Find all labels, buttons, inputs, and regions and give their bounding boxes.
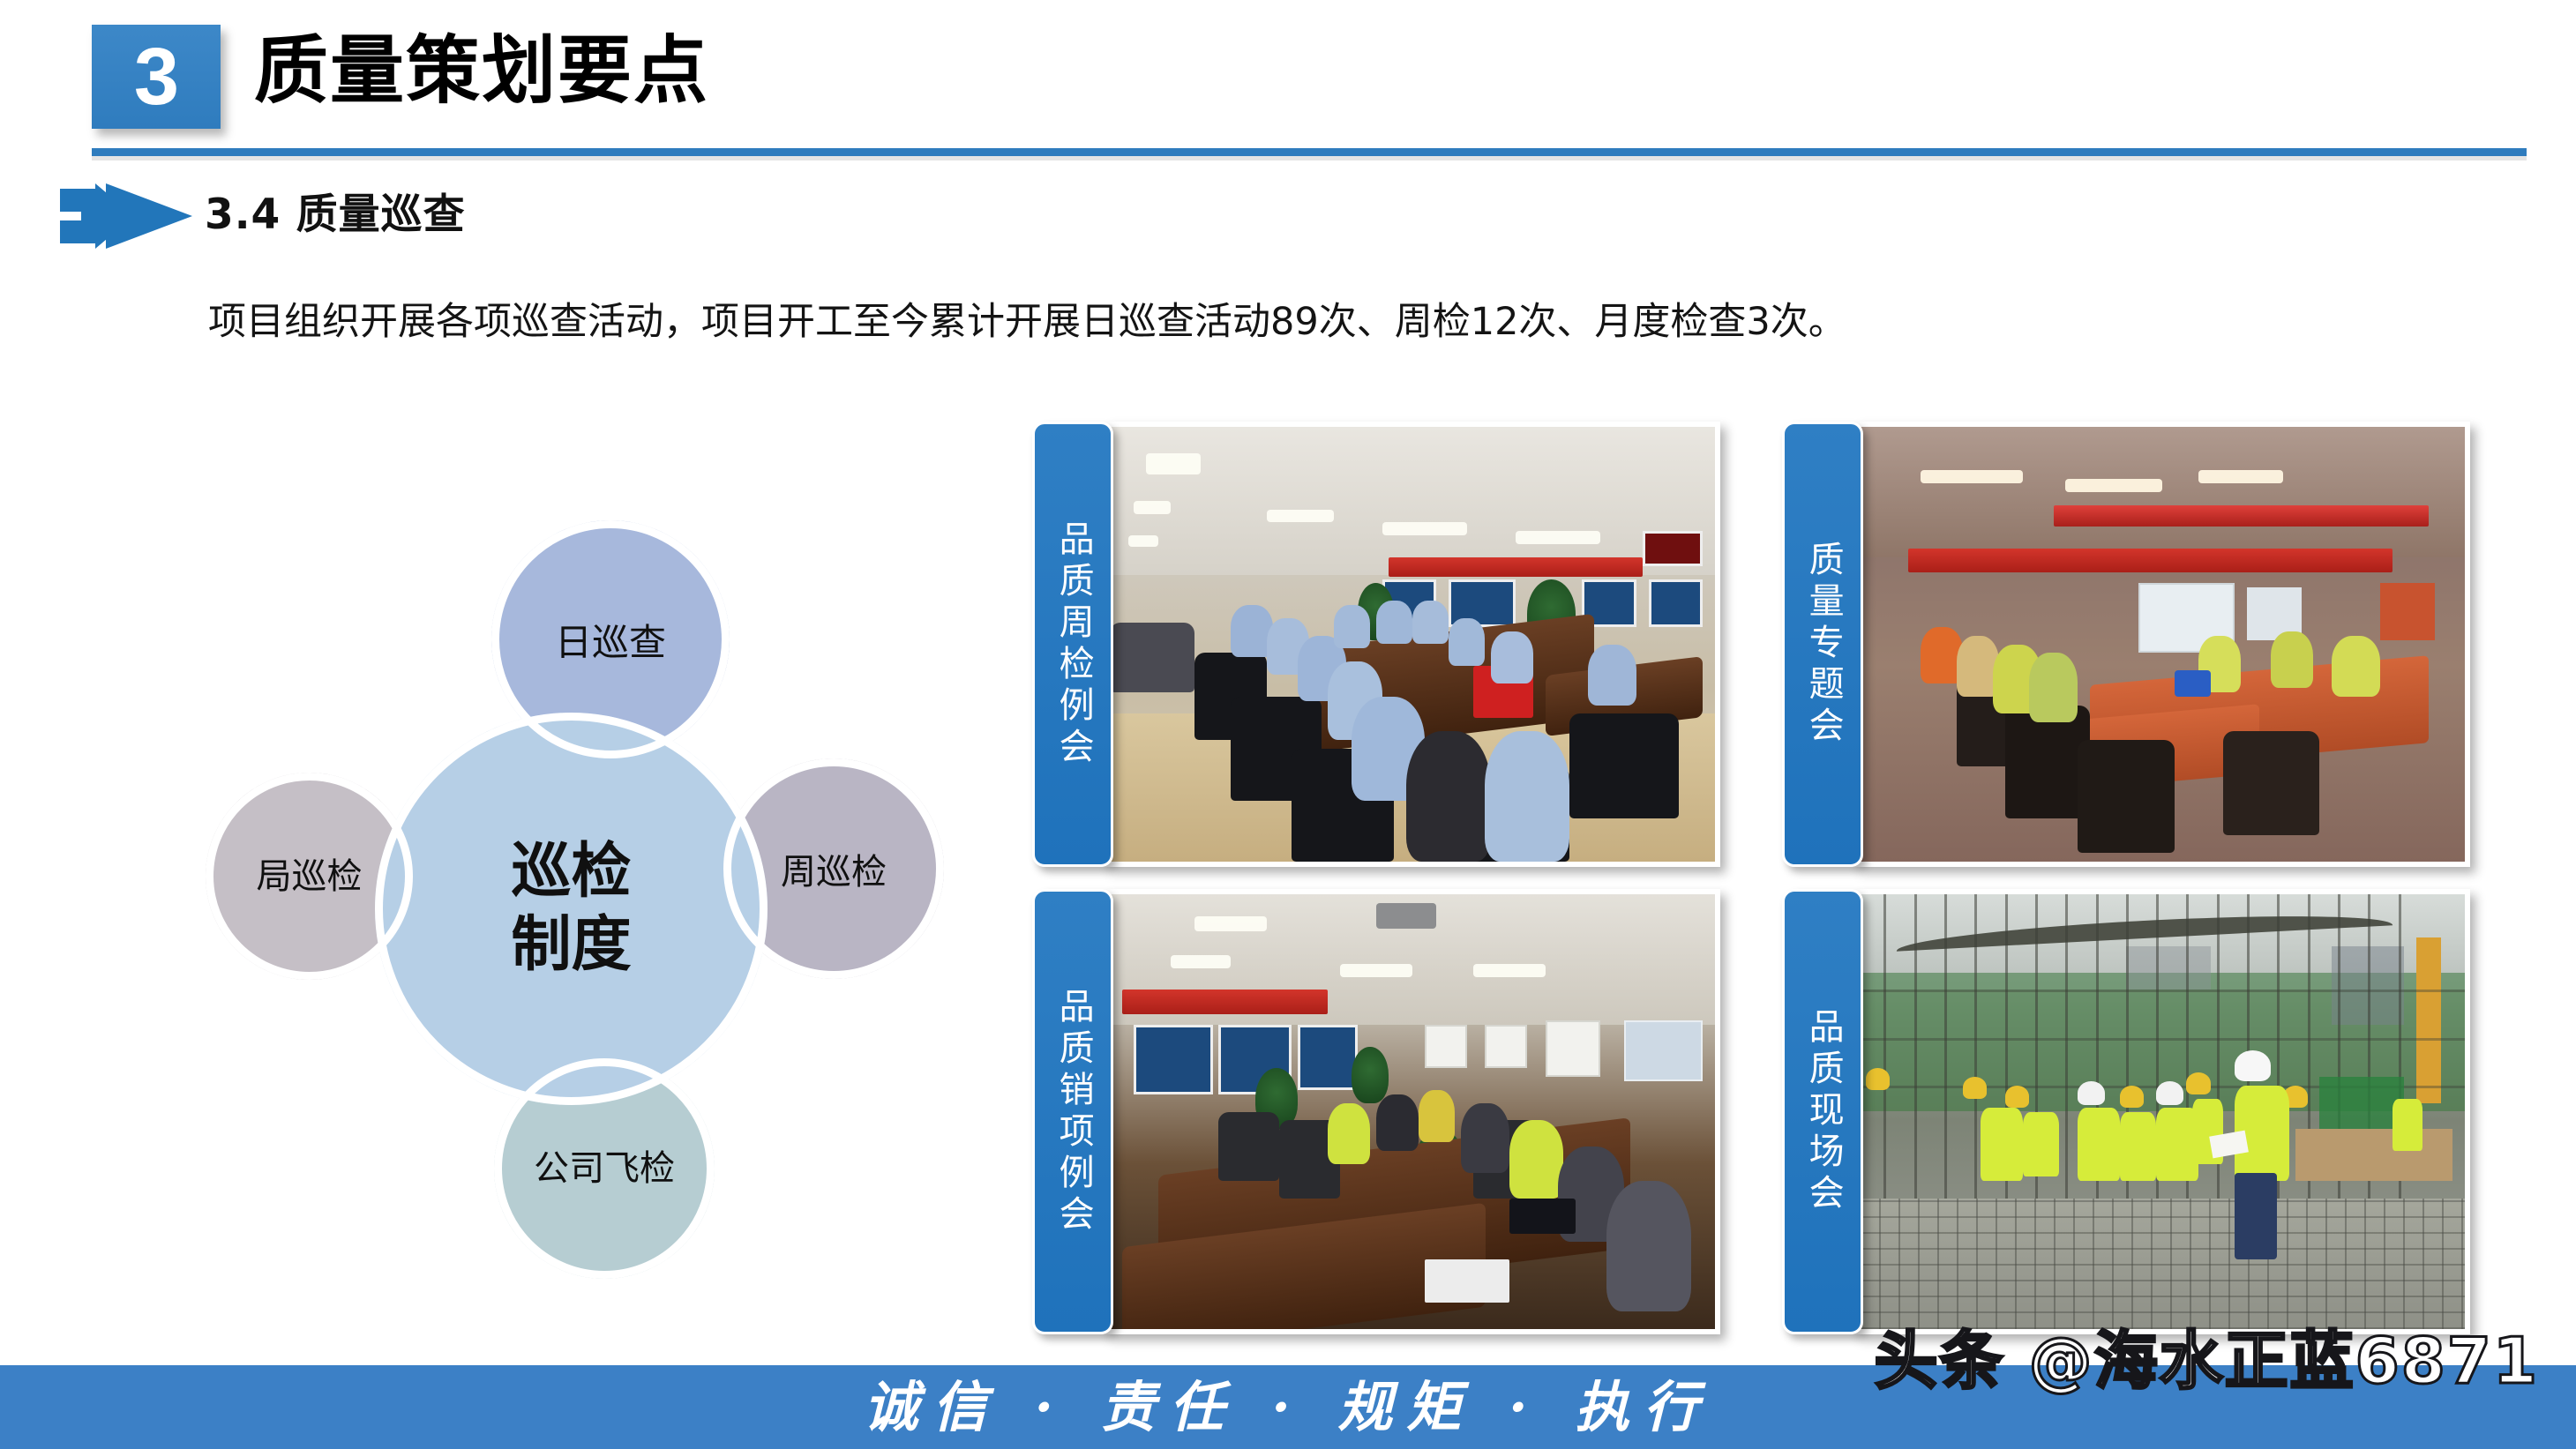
page-title: 质量策划要点 (254, 21, 709, 121)
photo-image-weekly-meeting (1110, 427, 1715, 862)
photo-frame-3 (1105, 889, 1720, 1334)
photo-card-quality-closeout-meeting[interactable]: 品质销项例会 (1032, 889, 1720, 1334)
photo-label-3: 品质销项例会 (1032, 889, 1113, 1334)
header-divider-shadow (92, 156, 2527, 161)
section-number-badge: 3 (92, 25, 221, 129)
photo-image-topic-meeting (1860, 427, 2465, 862)
photo-frame-1 (1105, 422, 1720, 867)
photo-card-quality-topic-meeting[interactable]: 质量专题会 (1782, 422, 2470, 867)
photo-label-2: 质量专题会 (1782, 422, 1863, 867)
photo-frame-4 (1854, 889, 2470, 1334)
watermark-text: 头条 @海水正蓝6871 (1875, 1309, 2539, 1401)
photo-image-closeout-meeting (1110, 894, 1715, 1329)
photo-card-quality-site-meeting[interactable]: 品质现场会 (1782, 889, 2470, 1334)
double-right-arrow-icon (60, 183, 192, 253)
diagram-node-right-label: 周巡检 (781, 843, 887, 894)
photo-label-1: 品质周检例会 (1032, 422, 1113, 867)
photo-frame-2 (1854, 422, 2470, 867)
diagram-center-label-line2: 制度 (511, 909, 631, 982)
diagram-node-top-label: 日巡查 (555, 613, 666, 667)
photo-image-site-meeting (1860, 894, 2465, 1329)
slide-header: 3 质量策划要点 (0, 0, 2576, 168)
subsection-title: 3.4 质量巡查 (205, 180, 466, 241)
diagram-center-label-line1: 巡检 (511, 836, 631, 909)
photo-card-quality-weekly-meeting[interactable]: 品质周检例会 (1032, 422, 1720, 867)
photo-label-4: 品质现场会 (1782, 889, 1863, 1334)
subsection-row: 3.4 质量巡查 (0, 173, 2576, 252)
diagram-node-left-label: 局巡检 (257, 855, 363, 899)
header-divider (92, 148, 2527, 156)
body-paragraph: 项目组织开展各项巡查活动，项目开工至今累计开展日巡查活动89次、周检12次、月度… (208, 296, 2325, 347)
diagram-node-bottom-label: 公司飞检 (534, 1147, 675, 1191)
section-number: 3 (134, 36, 178, 117)
inspection-system-diagram: 局巡检 周巡检 日巡查 公司飞检 巡检 制度 (190, 494, 1001, 1323)
diagram-node-center[interactable]: 巡检 制度 (375, 713, 768, 1105)
